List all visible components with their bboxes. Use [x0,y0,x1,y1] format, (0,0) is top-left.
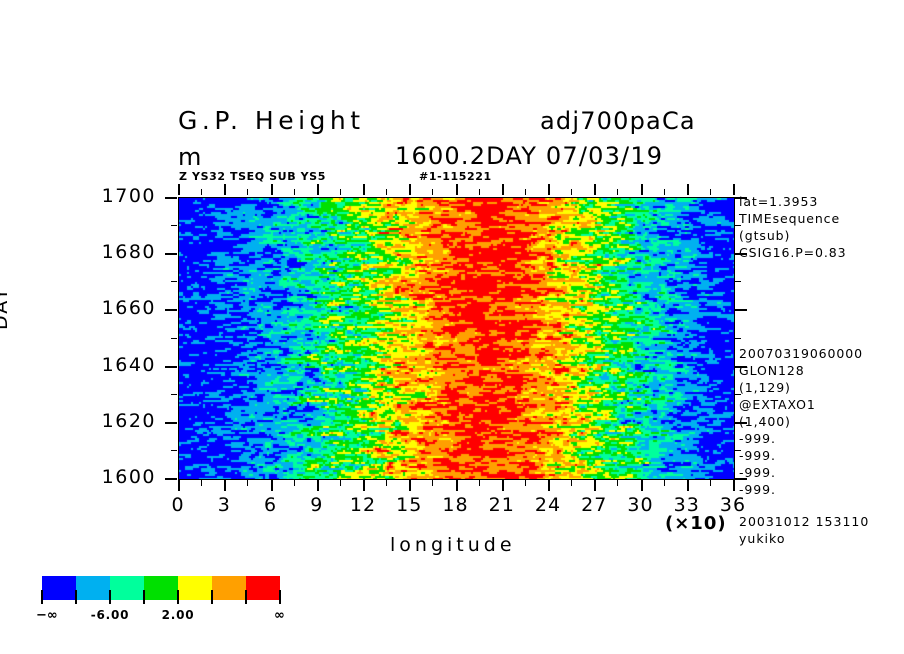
x-major-tick-top [363,184,365,195]
x-minor-tick [432,480,433,486]
heatmap-canvas [179,198,734,479]
y-minor-tick [171,225,177,226]
colorbar-swatch [110,576,144,600]
x-minor-tick [386,480,387,486]
dataset-label: adj700paCa [540,107,696,135]
y-tick-label: 1620 [66,410,156,432]
colorbar-tick [75,590,77,604]
x-major-tick [502,480,504,491]
x-minor-tick [617,480,618,486]
annotation-top-line: TIMEsequence [739,210,846,227]
annotation-middle-line: @EXTAXO1 [739,396,863,413]
x-minor-tick [664,480,665,486]
y-tick-label: 1640 [66,354,156,376]
annotation-middle-line: GLON128 [739,362,863,379]
x-major-tick-top [687,184,689,195]
x-major-tick [271,480,273,491]
x-minor-tick-top [664,189,665,195]
colorbar-tick-label: 2.00 [148,608,208,622]
x-minor-tick-top [710,189,711,195]
y-major-tick [165,422,177,424]
x-major-tick-top [594,184,596,195]
y-minor-tick-right [735,338,741,339]
x-minor-tick-top [571,189,572,195]
units-label: m [178,143,202,171]
colorbar-tick [211,590,213,604]
annotation-top-line: lat=1.3953 [739,193,846,210]
colorbar-tick [245,590,247,604]
x-major-tick-top [548,184,550,195]
annotation-middle-line: 20070319060000 [739,345,863,362]
y-major-tick [165,366,177,368]
x-minor-tick-top [525,189,526,195]
annotation-middle-line: (1,400) [739,413,863,430]
x-axis-title: longitude [390,534,516,556]
colorbar-tick [41,590,43,604]
x-major-tick [363,480,365,491]
y-minor-tick [171,450,177,451]
colorbar-label-max: ∞ [274,608,285,623]
colorbar-tick [177,590,179,604]
x-minor-tick [247,480,248,486]
x-major-tick-top [733,184,735,195]
x-tick-label: 12 [341,494,385,516]
colorbar-label-min: −∞ [36,608,58,623]
annotation-block-top: lat=1.3953TIMEsequence(gtsub)CSIG16.P=0.… [739,193,846,261]
x-minor-tick-top [386,189,387,195]
annotation-top-line: (gtsub) [739,227,846,244]
heatmap-plot-area [178,197,735,480]
x-minor-tick-top [340,189,341,195]
annotation-middle-line: (1,129) [739,379,863,396]
colorbar-tick [143,590,145,604]
annotation-middle-line: -999. [739,464,863,481]
subheader-descriptor: Z YS32 TSEQ SUB YS5 [179,170,326,183]
x-tick-label: 9 [295,494,339,516]
x-major-tick-top [409,184,411,195]
x-major-tick-top [178,184,180,195]
y-minor-tick [171,338,177,339]
y-major-tick [165,309,177,311]
x-minor-tick-top [432,189,433,195]
x-minor-tick-top [294,189,295,195]
y-minor-tick-right [735,281,741,282]
y-major-tick-right [735,309,747,311]
annotation-block-stamp: 20031012 153110yukiko [739,513,869,547]
x-major-tick-top [641,184,643,195]
colorbar-swatch [178,576,212,600]
annotation-block-middle: 20070319060000GLON128(1,129)@EXTAXO1(1,4… [739,345,863,498]
timestamp-title: 1600.2DAY 07/03/19 [395,142,663,170]
x-tick-label: 6 [249,494,293,516]
colorbar-swatch [76,576,110,600]
x-tick-label: 21 [480,494,524,516]
x-major-tick [456,480,458,491]
colorbar-tick-label: -6.00 [80,608,140,622]
x-tick-label: 0 [156,494,200,516]
y-major-tick [165,478,177,480]
x-tick-label: 24 [526,494,570,516]
annotation-top-line: CSIG16.P=0.83 [739,244,846,261]
subheader-id: #1-115221 [419,170,492,183]
x-tick-label: 3 [202,494,246,516]
x-major-tick-top [224,184,226,195]
x-minor-tick [479,480,480,486]
x-minor-tick-top [617,189,618,195]
x-major-tick [594,480,596,491]
y-minor-tick [171,394,177,395]
x-major-tick [178,480,180,491]
x-minor-tick-top [201,189,202,195]
y-minor-tick [171,281,177,282]
x-major-tick [548,480,550,491]
x-minor-tick [710,480,711,486]
x-minor-tick [201,480,202,486]
colorbar-swatch [144,576,178,600]
y-tick-label: 1600 [66,466,156,488]
colorbar-swatch [42,576,76,600]
x-major-tick [733,480,735,491]
x-major-tick-top [271,184,273,195]
x-major-tick [224,480,226,491]
colorbar-tick [109,590,111,604]
x-axis-multiplier: (×10) [665,513,727,534]
y-major-tick [165,197,177,199]
x-major-tick [317,480,319,491]
x-minor-tick [525,480,526,486]
x-major-tick [409,480,411,491]
x-major-tick-top [317,184,319,195]
x-minor-tick-top [479,189,480,195]
y-axis-title: DAY [0,287,12,330]
y-tick-label: 1660 [66,297,156,319]
x-tick-label: 30 [619,494,663,516]
x-tick-label: 15 [387,494,431,516]
colorbar-tick [279,590,281,604]
x-minor-tick [571,480,572,486]
annotation-middle-line: -999. [739,481,863,498]
colorbar-swatch [246,576,280,600]
y-tick-label: 1680 [66,241,156,263]
annotation-middle-line: -999. [739,447,863,464]
page-title: G.P. Height [178,106,365,135]
x-major-tick-top [456,184,458,195]
colorbar-swatch [212,576,246,600]
x-major-tick-top [502,184,504,195]
x-minor-tick-top [247,189,248,195]
x-tick-label: 27 [572,494,616,516]
annotation-stamp-line: 20031012 153110 [739,513,869,530]
annotation-middle-line: -999. [739,430,863,447]
x-tick-label: 18 [434,494,478,516]
x-major-tick [687,480,689,491]
annotation-stamp-line: yukiko [739,530,869,547]
y-major-tick [165,253,177,255]
x-minor-tick [294,480,295,486]
y-tick-label: 1700 [66,185,156,207]
x-minor-tick [340,480,341,486]
x-major-tick [641,480,643,491]
